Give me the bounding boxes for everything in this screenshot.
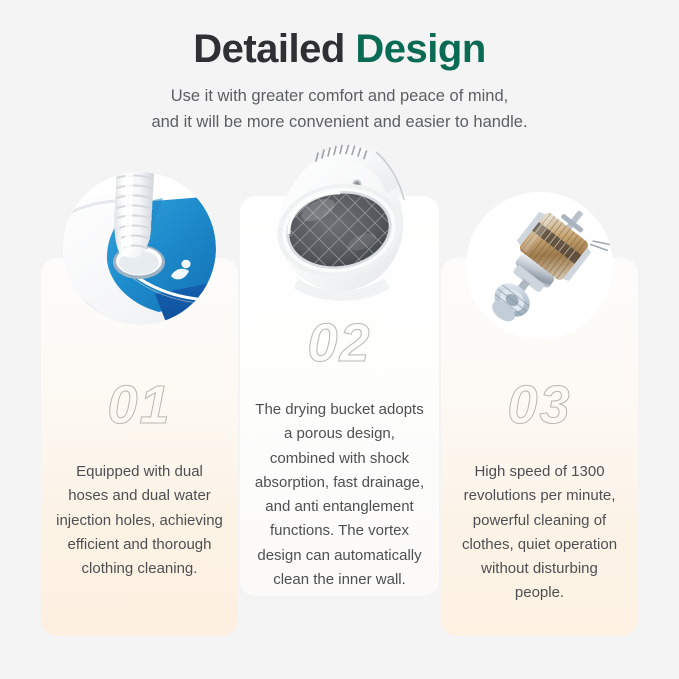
feature-cards-row: 01 Equipped with dual hoses and dual wat… [0, 0, 679, 679]
drying-bucket-photo [258, 138, 423, 303]
feature-card-01-number: 01 [41, 378, 238, 432]
feature-card-02-text: The drying bucket adopts a porous design… [254, 398, 425, 592]
feature-card-03-number: 03 [441, 378, 638, 432]
feature-card-02-number: 02 [240, 316, 439, 370]
hose-and-water-inlet-photo [63, 172, 216, 325]
hose-and-water-inlet-image [63, 172, 216, 325]
motor-photo [466, 192, 613, 339]
drying-bucket-image [258, 138, 423, 303]
feature-card-01-text: Equipped with dual hoses and dual water … [55, 460, 224, 581]
feature-card-03-text: High speed of 1300 revolutions per minut… [455, 460, 624, 606]
motor-image [466, 192, 613, 339]
